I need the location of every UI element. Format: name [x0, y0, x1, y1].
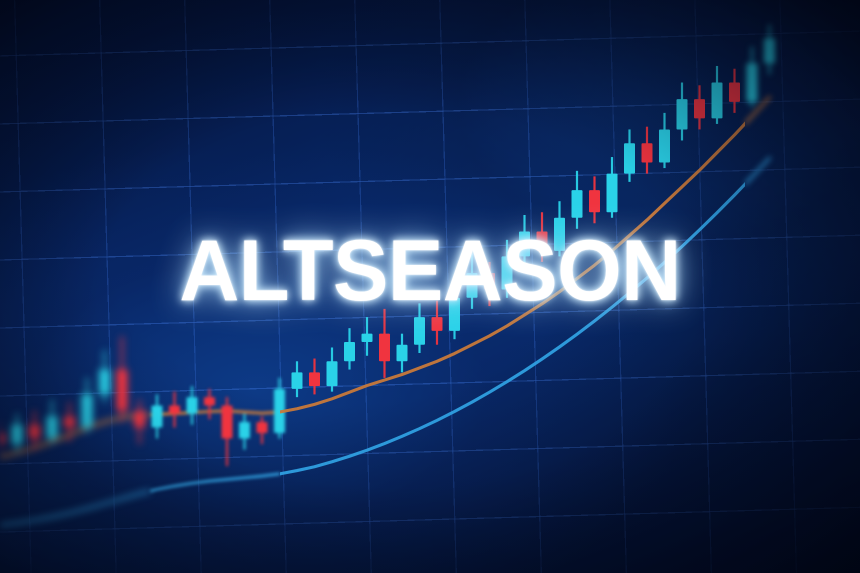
- page-title: ALTSEASON: [15, 228, 845, 314]
- moving-average-line: [0, 158, 770, 527]
- candlestick-bullish: [747, 47, 758, 108]
- altseason-banner: ALTSEASON ALTSEASON ALTSEASON: [0, 0, 860, 573]
- candlestick-bullish: [764, 25, 775, 75]
